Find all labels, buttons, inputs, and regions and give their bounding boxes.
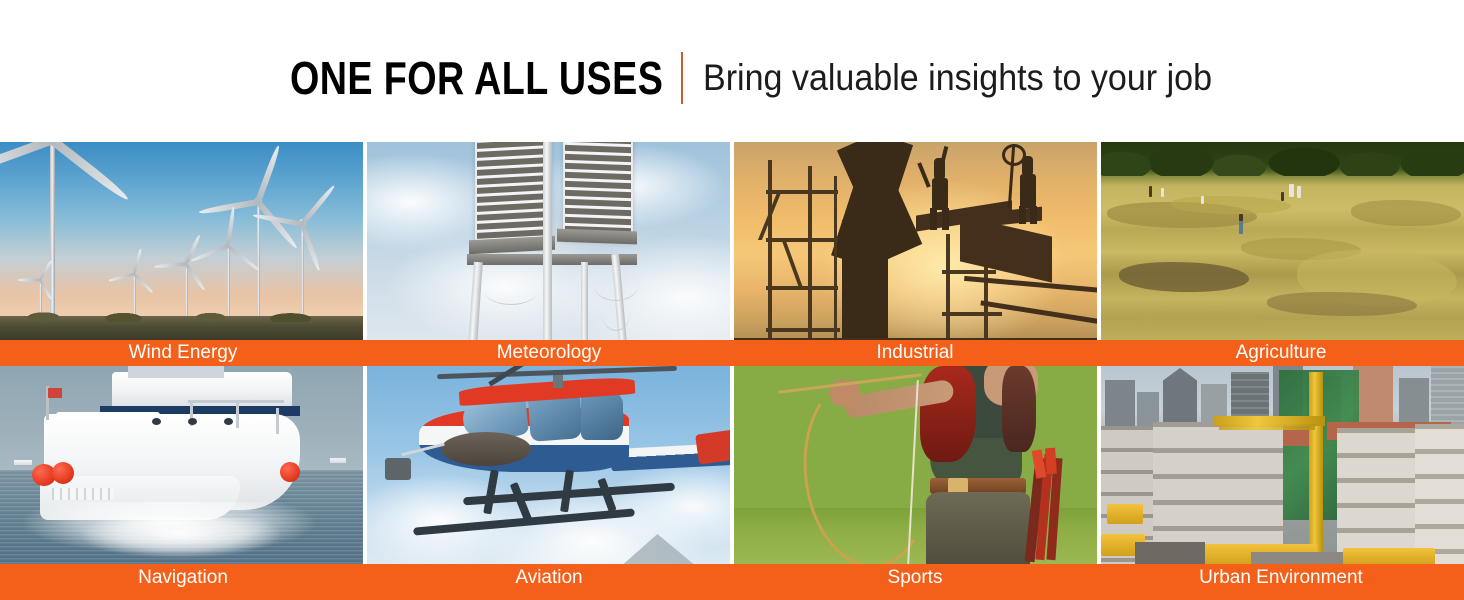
tile-agriculture[interactable] [1101, 142, 1464, 342]
tile-urban-environment[interactable] [1101, 366, 1464, 566]
agriculture-image [1101, 142, 1464, 342]
industrial-image [734, 142, 1097, 342]
title-divider [681, 52, 683, 104]
meteorology-image [367, 142, 730, 342]
promo-banner: ONE FOR ALL USES Bring valuable insights… [0, 0, 1464, 600]
sports-image [734, 366, 1097, 566]
page-title: ONE FOR ALL USES [290, 55, 663, 101]
label-bar-row-1: Wind Energy Meteorology Industrial Agric… [0, 340, 1464, 366]
tile-sports[interactable] [734, 366, 1097, 566]
wind-energy-image [0, 142, 363, 342]
tile-label-sports: Sports [732, 564, 1098, 600]
tile-label-urban-environment: Urban Environment [1098, 564, 1464, 600]
tile-meteorology[interactable] [367, 142, 730, 342]
tile-label-aviation: Aviation [366, 564, 732, 600]
tile-aviation[interactable] [367, 366, 730, 566]
aviation-image [367, 366, 730, 566]
banner-header: ONE FOR ALL USES Bring valuable insights… [0, 0, 1464, 142]
tile-industrial[interactable] [734, 142, 1097, 342]
label-bar-row-2: Navigation Aviation Sports Urban Environ… [0, 564, 1464, 600]
tile-navigation[interactable] [0, 366, 363, 566]
tile-label-industrial: Industrial [732, 340, 1098, 366]
urban-environment-image [1101, 366, 1464, 566]
tile-row-1 [0, 142, 1464, 342]
tile-wind-energy[interactable] [0, 142, 363, 342]
tile-row-2 [0, 366, 1464, 566]
page-subtitle: Bring valuable insights to your job [703, 58, 1212, 98]
tile-label-navigation: Navigation [0, 564, 366, 600]
tile-label-meteorology: Meteorology [366, 340, 732, 366]
tile-label-wind-energy: Wind Energy [0, 340, 366, 366]
tile-label-agriculture: Agriculture [1098, 340, 1464, 366]
navigation-image [0, 366, 363, 566]
